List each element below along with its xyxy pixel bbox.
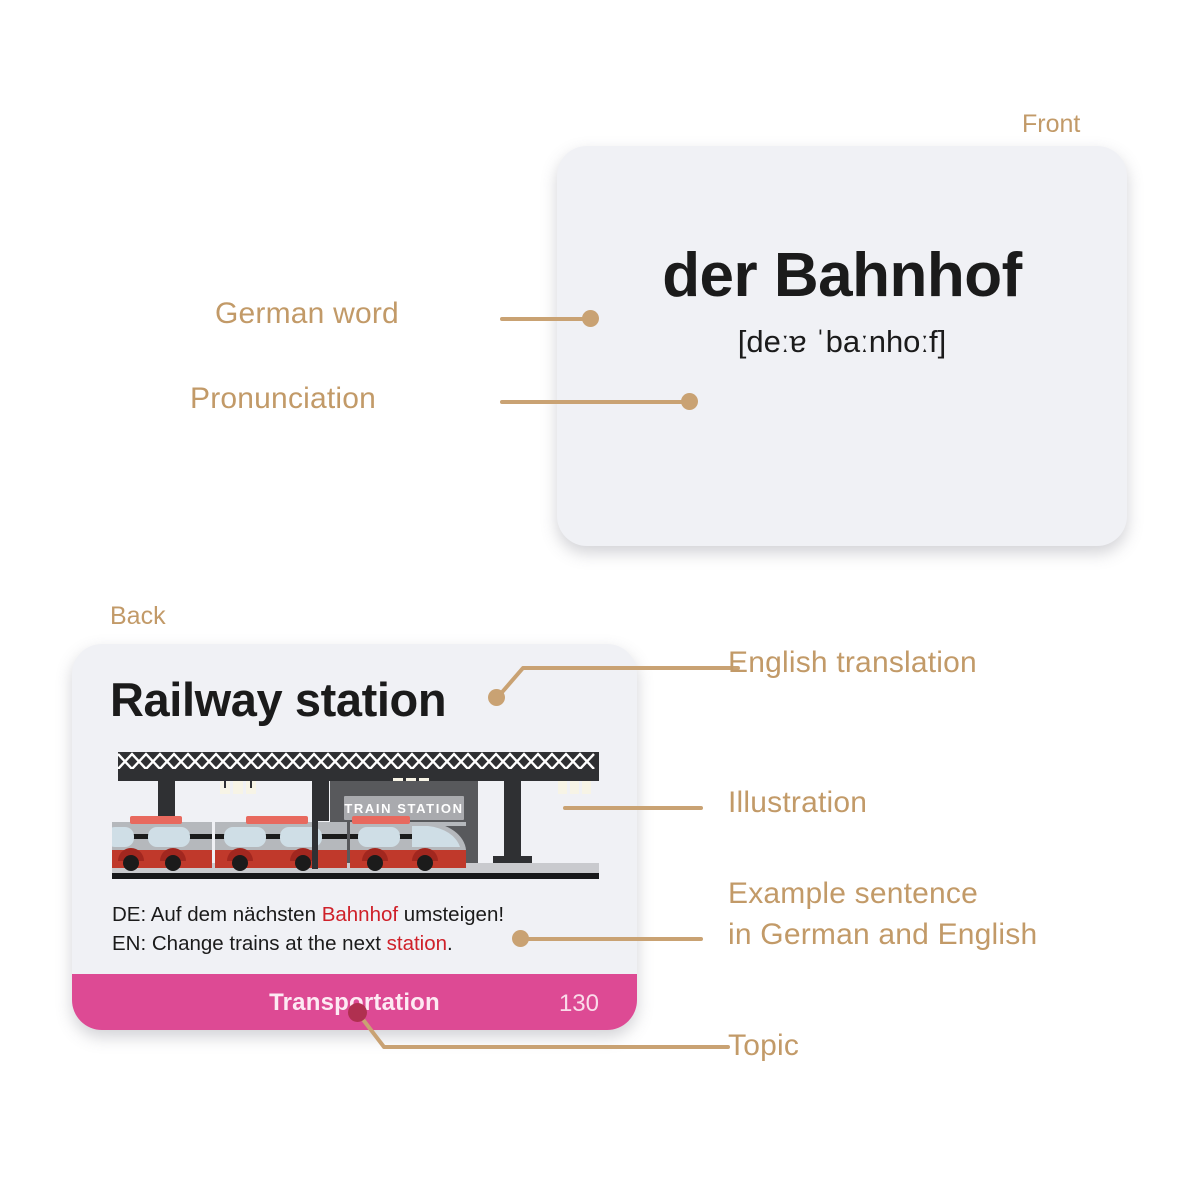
leader-dot-german-word bbox=[582, 310, 599, 327]
annotation-topic: Topic bbox=[728, 1028, 799, 1063]
annotation-english-translation: English translation bbox=[728, 645, 977, 680]
canopy-column-right bbox=[504, 781, 521, 859]
flashcard-diagram: Front Back der Bahnhof [deːɐ ˈbaːnhoːf] … bbox=[0, 0, 1200, 1200]
pronunciation-text: [deːɐ ˈbaːnhoːf] bbox=[557, 324, 1127, 360]
leader-line-pronunciation bbox=[500, 400, 696, 404]
annotation-example-sentence-line1: Example sentence bbox=[728, 876, 978, 911]
sentence-en-prefix: EN: Change trains at the next bbox=[112, 932, 387, 955]
annotation-german-word: German word bbox=[215, 296, 399, 331]
sentence-de-suffix: umsteigen! bbox=[398, 903, 504, 926]
front-card: der Bahnhof [deːɐ ˈbaːnhoːf] bbox=[557, 146, 1127, 546]
annotation-illustration: Illustration bbox=[728, 785, 867, 820]
english-translation-text: Railway station bbox=[110, 672, 446, 727]
leader-dot-english-translation bbox=[488, 689, 505, 706]
canopy-column-mid bbox=[312, 781, 329, 821]
sentence-en: EN: Change trains at the next station. bbox=[112, 929, 602, 958]
back-side-label: Back bbox=[110, 602, 166, 631]
german-word-text: der Bahnhof bbox=[557, 240, 1127, 311]
leader-line-topic bbox=[330, 995, 730, 1065]
train bbox=[112, 816, 466, 871]
annotation-example-sentence-line2: in German and English bbox=[728, 917, 1037, 952]
leader-line-example-sentence bbox=[525, 937, 703, 941]
train-locomotive bbox=[350, 816, 466, 871]
sentence-en-highlight: station bbox=[387, 932, 447, 955]
station-sign-text: TRAIN STATION bbox=[344, 801, 463, 816]
leader-line-english-translation bbox=[480, 640, 740, 710]
train-station-illustration: TRAIN STATION bbox=[112, 748, 599, 891]
front-side-label: Front bbox=[1022, 110, 1080, 139]
train-car-2 bbox=[215, 816, 347, 871]
rail-track bbox=[112, 873, 599, 879]
leader-dot-example-sentence bbox=[512, 930, 529, 947]
sentence-en-suffix: . bbox=[447, 932, 453, 955]
leader-dot-pronunciation bbox=[681, 393, 698, 410]
sentence-de: DE: Auf dem nächsten Bahnhof umsteigen! bbox=[112, 900, 602, 929]
sentence-de-highlight: Bahnhof bbox=[322, 903, 398, 926]
example-sentences: DE: Auf dem nächsten Bahnhof umsteigen! … bbox=[112, 900, 602, 958]
canopy-truss bbox=[118, 752, 599, 781]
annotation-pronunciation: Pronunciation bbox=[190, 381, 376, 416]
train-car-1 bbox=[112, 816, 212, 871]
leader-line-illustration bbox=[563, 806, 703, 810]
sentence-de-prefix: DE: Auf dem nächsten bbox=[112, 903, 322, 926]
leader-dot-topic bbox=[348, 1003, 367, 1022]
train-illustration-svg: TRAIN STATION bbox=[112, 748, 599, 891]
